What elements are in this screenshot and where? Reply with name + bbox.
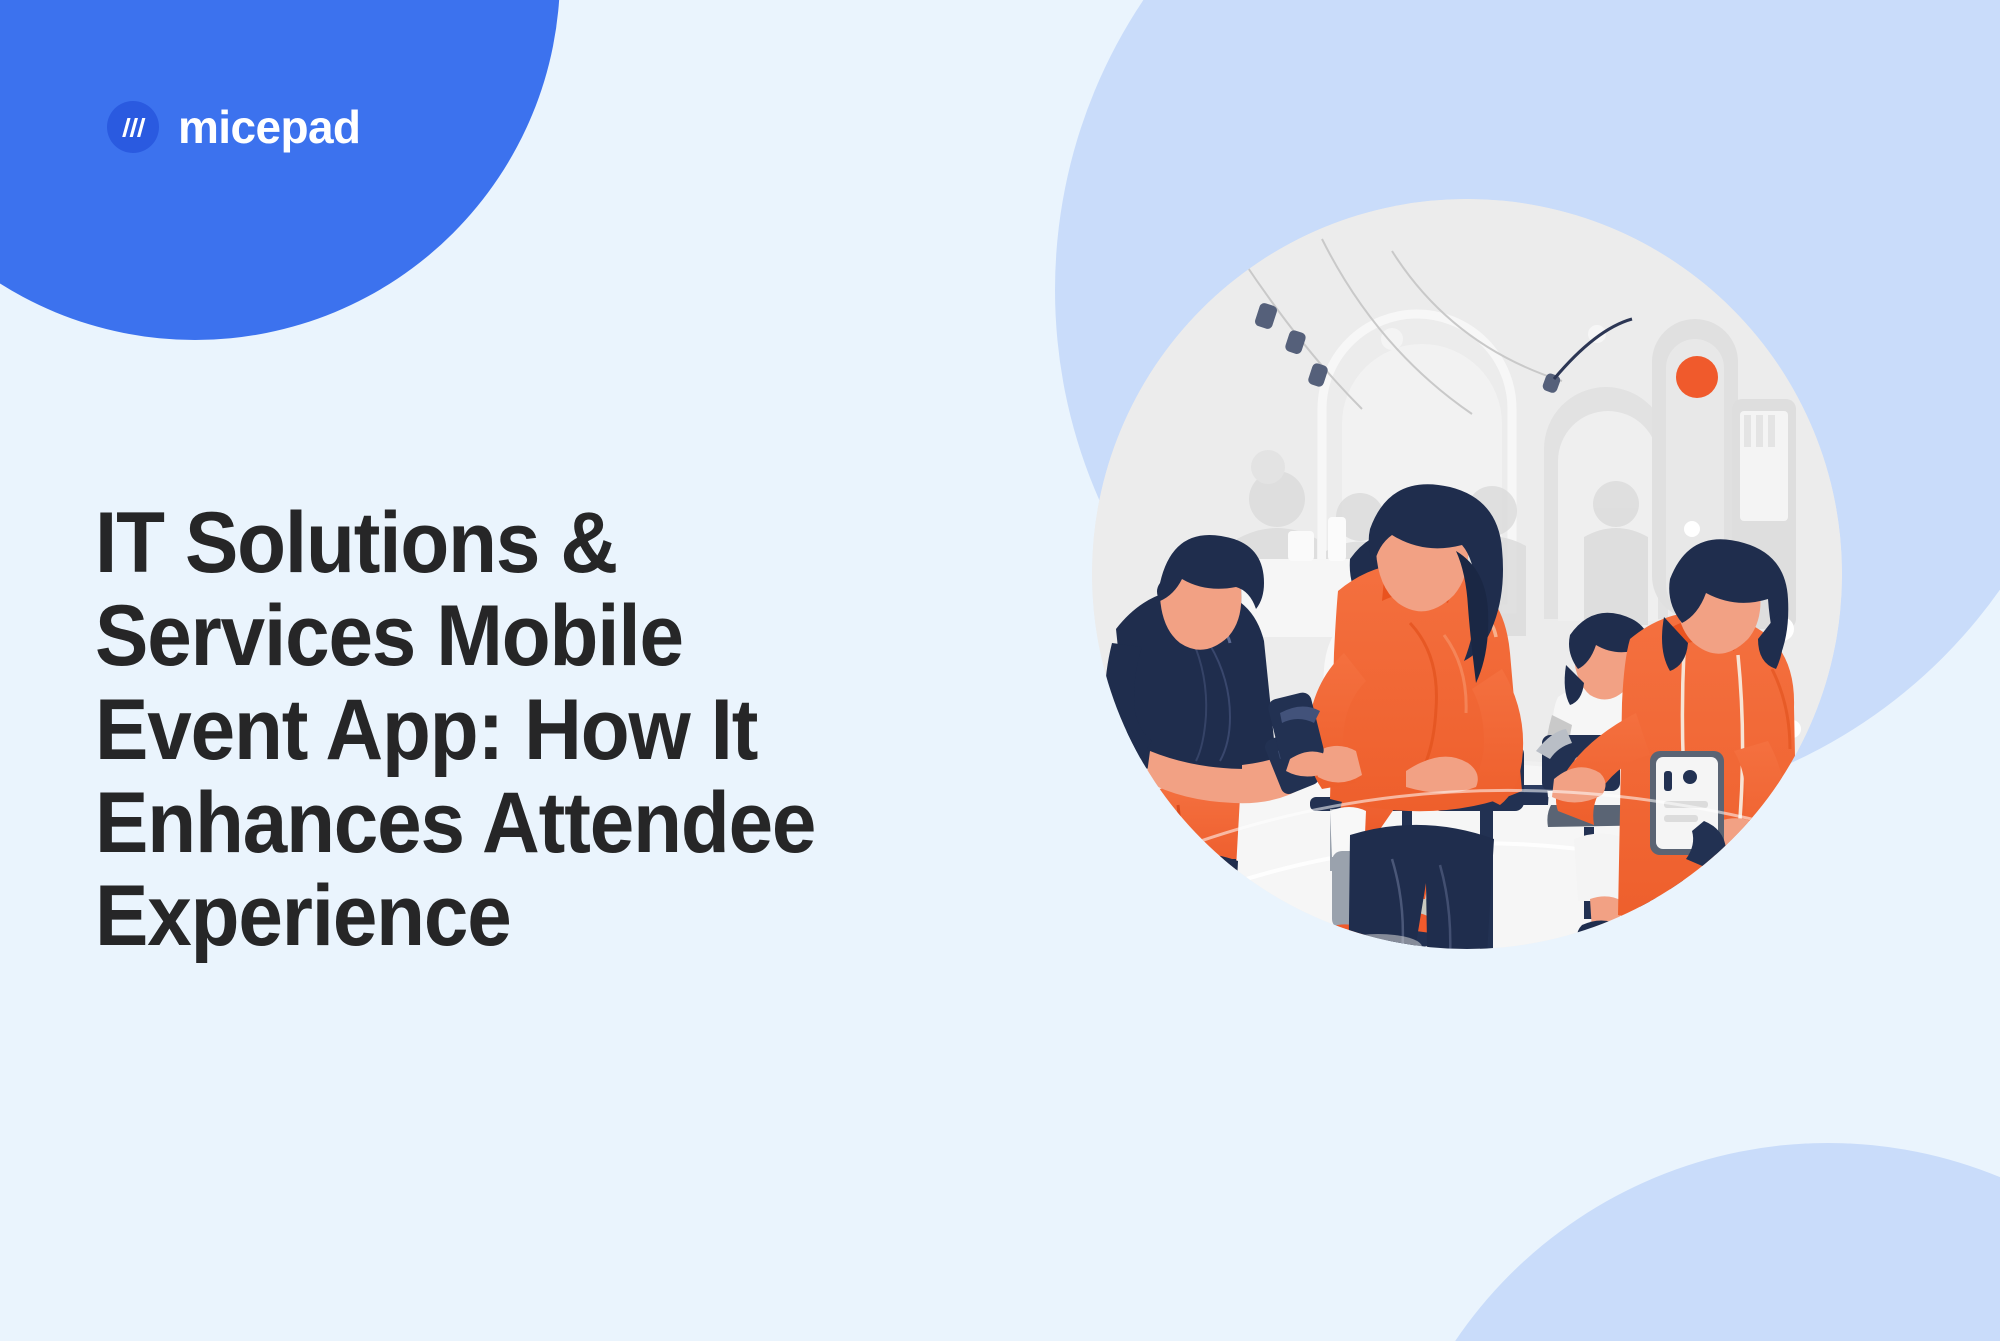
poster-canvas: micepad IT Solutions & Services Mobile E… xyxy=(0,0,2000,1341)
brand-logo[interactable]: micepad xyxy=(107,101,360,153)
decorative-circle-bottom-right xyxy=(1378,1143,2000,1341)
page-title: IT Solutions & Services Mobile Event App… xyxy=(95,497,858,963)
brand-name: micepad xyxy=(178,104,360,150)
headline-line-3: Event App: How It xyxy=(95,684,858,777)
headline-line-4: Enhances Attendee xyxy=(95,777,858,870)
micepad-bars-icon xyxy=(107,101,159,153)
headline-line-2: Services Mobile xyxy=(95,590,858,683)
headline-line-5: Experience xyxy=(95,870,858,963)
hero-illustration xyxy=(1092,199,1842,949)
decorative-blue-blob-top-left xyxy=(0,0,560,340)
headline-line-1: IT Solutions & xyxy=(95,497,858,590)
